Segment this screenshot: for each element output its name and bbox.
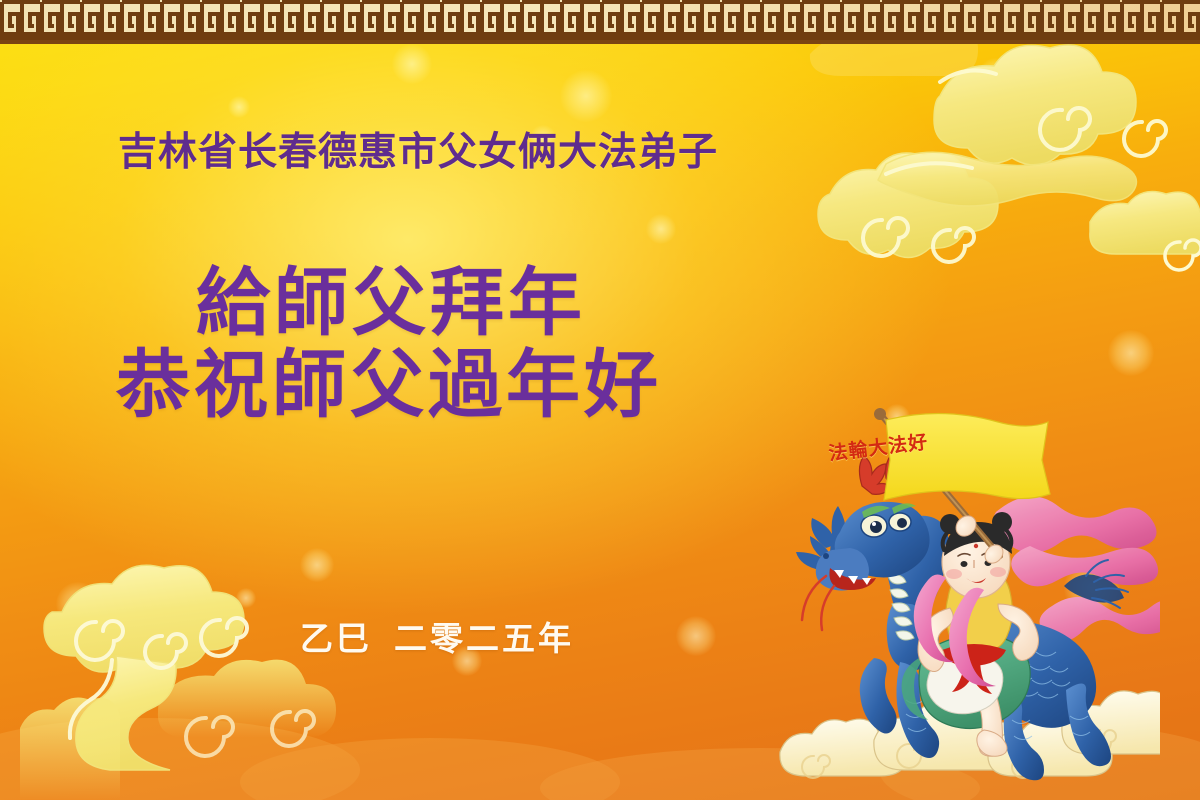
bokeh-light (56, 582, 100, 626)
bokeh-light (978, 58, 1014, 94)
meander-border (0, 0, 1200, 44)
greeting-block: 給師父拜年 恭祝師父過年好 (0, 262, 820, 426)
bokeh-light (676, 616, 716, 656)
illustration-boy-on-qilin: 法輪大法好 (770, 400, 1160, 790)
bokeh-light (560, 70, 612, 122)
greeting-card: 吉林省长春德惠市父女俩大法弟子 給師父拜年 恭祝師父過年好 乙巳二零二五年 (0, 0, 1200, 800)
cloud-lower-left (20, 550, 360, 800)
bokeh-light (228, 96, 250, 118)
date-line: 乙巳二零二五年 (300, 612, 574, 660)
bokeh-light (236, 588, 256, 608)
bokeh-light (646, 214, 676, 244)
greeting-line-1: 給師父拜年 (0, 262, 820, 344)
sender-line: 吉林省长春德惠市父女俩大法弟子 (118, 133, 718, 172)
date-year: 二零二五年 (394, 619, 574, 658)
cloud-upper-right (790, 44, 1200, 334)
greeting-line-2: 恭祝師父過年好 (0, 344, 820, 426)
date-stem-branch: 乙巳 (300, 619, 372, 658)
bokeh-light (300, 548, 334, 582)
bokeh-light (392, 44, 432, 84)
bokeh-light (1108, 330, 1154, 376)
